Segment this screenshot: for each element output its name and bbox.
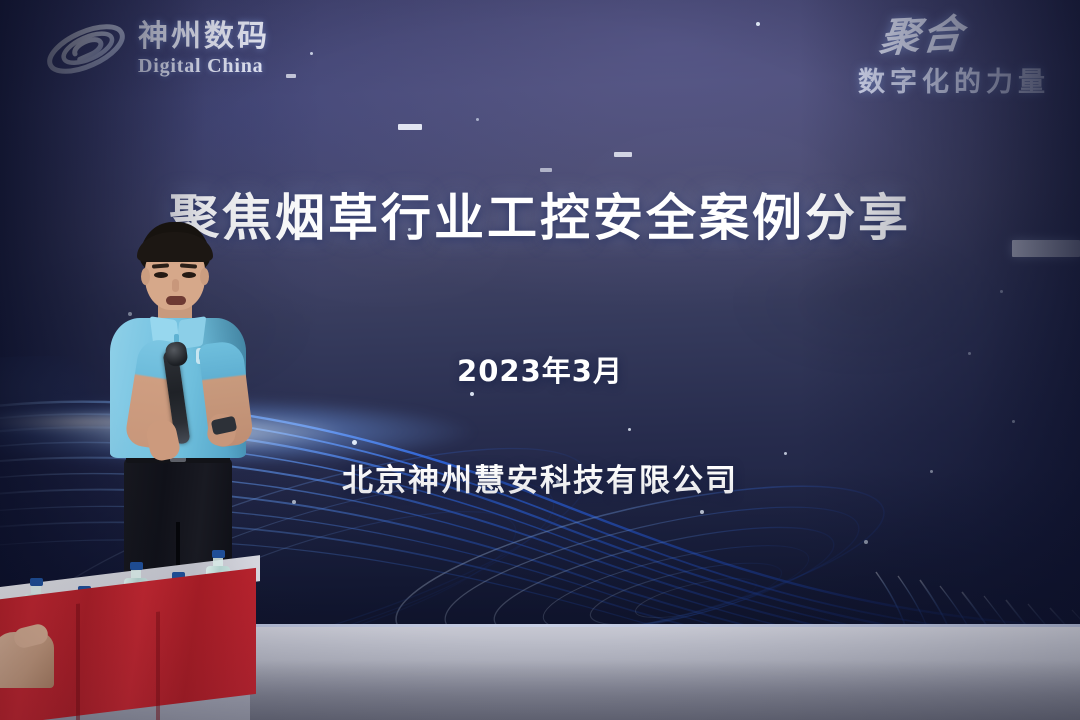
brand-name-en: Digital China xyxy=(138,56,270,76)
presenter-ear-right xyxy=(200,268,209,285)
presenter-nose xyxy=(172,279,179,292)
bottle-cap xyxy=(30,578,43,586)
bottle-neck xyxy=(213,558,223,566)
digital-china-spiral-logo xyxy=(44,18,128,80)
bottle-cap xyxy=(212,550,225,558)
event-slogan: 聚合 数字化的力量 xyxy=(858,18,1050,99)
drape-fold xyxy=(156,612,160,720)
presenter-mouth xyxy=(166,296,186,305)
slogan-calligraphy: 聚合 xyxy=(856,15,967,58)
sparkle-dot xyxy=(470,392,474,396)
sparkle-dot xyxy=(292,500,296,504)
stage-floor-shadow xyxy=(250,660,1080,720)
bottle-neck xyxy=(31,586,41,594)
presenter-eye-right xyxy=(182,272,196,278)
sparkle-bar xyxy=(286,74,296,78)
slogan-subtitle: 数字化的力量 xyxy=(858,60,1050,99)
sparkle-dot xyxy=(628,428,631,431)
sparkle-bar xyxy=(540,168,552,172)
bottle-neck xyxy=(131,570,141,578)
sparkle-dot xyxy=(756,22,760,26)
conference-stage-photo: 神州数码 Digital China 聚合 数字化的力量 聚焦烟草行业工控安全案… xyxy=(0,0,1080,720)
sparkle-bar xyxy=(398,124,422,130)
sparkle-dot xyxy=(700,510,704,514)
light-strip-icon xyxy=(1012,240,1080,257)
brand-logo: 神州数码 Digital China xyxy=(44,18,270,80)
bottle-cap xyxy=(130,562,143,570)
sparkle-dot xyxy=(864,540,868,544)
sparkle-bar xyxy=(614,152,632,157)
sparkle-dot xyxy=(1000,290,1003,293)
presenter-ear-left xyxy=(141,268,150,285)
presenter-eye-left xyxy=(154,272,168,278)
sparkle-dot xyxy=(476,118,479,121)
drape-fold xyxy=(76,604,80,720)
sparkle-dot xyxy=(1012,420,1015,423)
brand-name-cn: 神州数码 xyxy=(138,22,270,52)
sparkle-dot xyxy=(310,52,313,55)
sparkle-dot xyxy=(352,440,357,445)
